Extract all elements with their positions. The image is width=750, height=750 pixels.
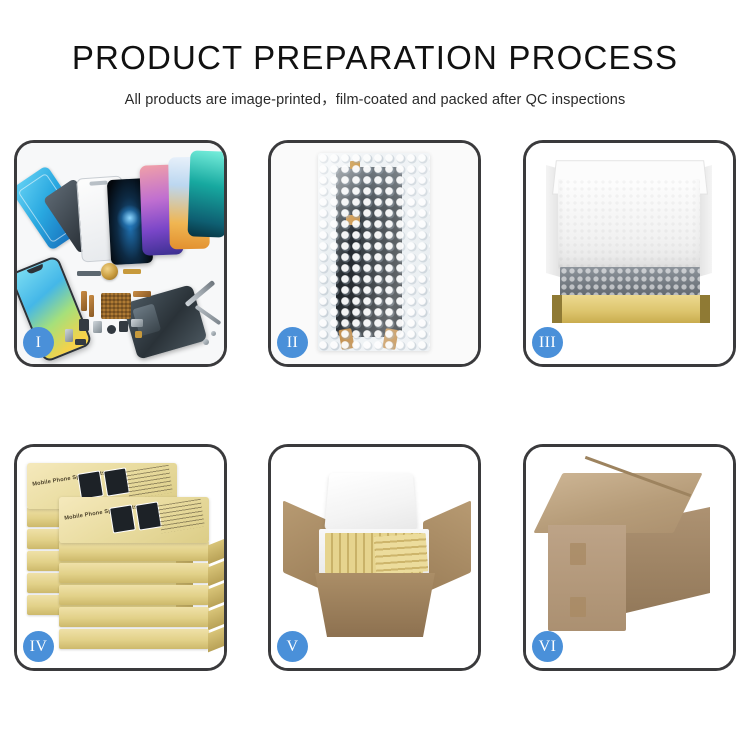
carton-front-face <box>548 525 626 631</box>
box-product-photo <box>77 470 104 499</box>
step-badge-4: IV <box>23 631 54 662</box>
retail-box-top-right: Mobile Phone Spare Parts <box>59 497 209 543</box>
spare-part-chip <box>79 319 89 331</box>
process-step-panel-3[interactable]: III <box>523 140 736 367</box>
process-step-grid: I II <box>0 136 750 686</box>
carton-tape-mark <box>570 543 586 565</box>
white-foam-liner <box>558 179 700 269</box>
plastic-sheen <box>318 153 430 351</box>
process-step-panel-1[interactable]: I <box>14 140 227 367</box>
step-badge-1: I <box>23 327 54 358</box>
page-header: PRODUCT PREPARATION PROCESS All products… <box>0 0 750 128</box>
box-stack: Mobile Phone Spare Parts Mobile Phone Sp… <box>25 465 223 655</box>
spare-part-chip <box>107 325 116 334</box>
step-badge-2: II <box>277 327 308 358</box>
wireless-charging-coil-icon <box>101 263 118 280</box>
spare-part-chip <box>75 339 86 345</box>
spare-part-chip <box>77 271 101 276</box>
step-badge-3: III <box>532 327 563 358</box>
spare-part-chip <box>123 269 141 274</box>
box-spec-lines <box>125 465 173 500</box>
spare-part-chip <box>131 319 143 327</box>
page-subtitle: All products are image-printed，film-coat… <box>0 78 750 109</box>
step-badge-5: V <box>277 631 308 662</box>
process-step-panel-6[interactable]: VI <box>523 444 736 671</box>
spare-part-chip <box>135 331 142 338</box>
spare-part-chip <box>81 291 87 311</box>
carton-tape-mark <box>570 597 586 617</box>
kraft-box-front-panel <box>552 295 710 323</box>
carton-body <box>315 573 435 637</box>
box-product-photo <box>109 504 136 533</box>
bubble-wrap-bag <box>318 153 430 351</box>
logic-board-pad-grid <box>101 293 131 319</box>
spare-part-chip <box>119 321 128 332</box>
carton-top-face <box>533 473 702 533</box>
screw-part <box>211 331 216 336</box>
spare-part-chip <box>65 329 73 342</box>
phone-teal-display <box>188 150 224 237</box>
step-badge-6: VI <box>532 631 563 662</box>
page-title: PRODUCT PREPARATION PROCESS <box>0 0 750 78</box>
process-step-panel-5[interactable]: V <box>268 444 481 671</box>
spare-part-chip <box>89 295 94 317</box>
box-spec-lines <box>157 499 205 534</box>
foam-lid <box>324 473 417 531</box>
screw-part <box>203 339 209 345</box>
spare-part-chip <box>133 291 151 297</box>
process-step-panel-2[interactable]: II <box>268 140 481 367</box>
packed-yellow-boxes-2 <box>374 533 429 575</box>
process-step-panel-4[interactable]: Mobile Phone Spare Parts Mobile Phone Sp… <box>14 444 227 671</box>
spare-part-chip <box>93 321 102 333</box>
